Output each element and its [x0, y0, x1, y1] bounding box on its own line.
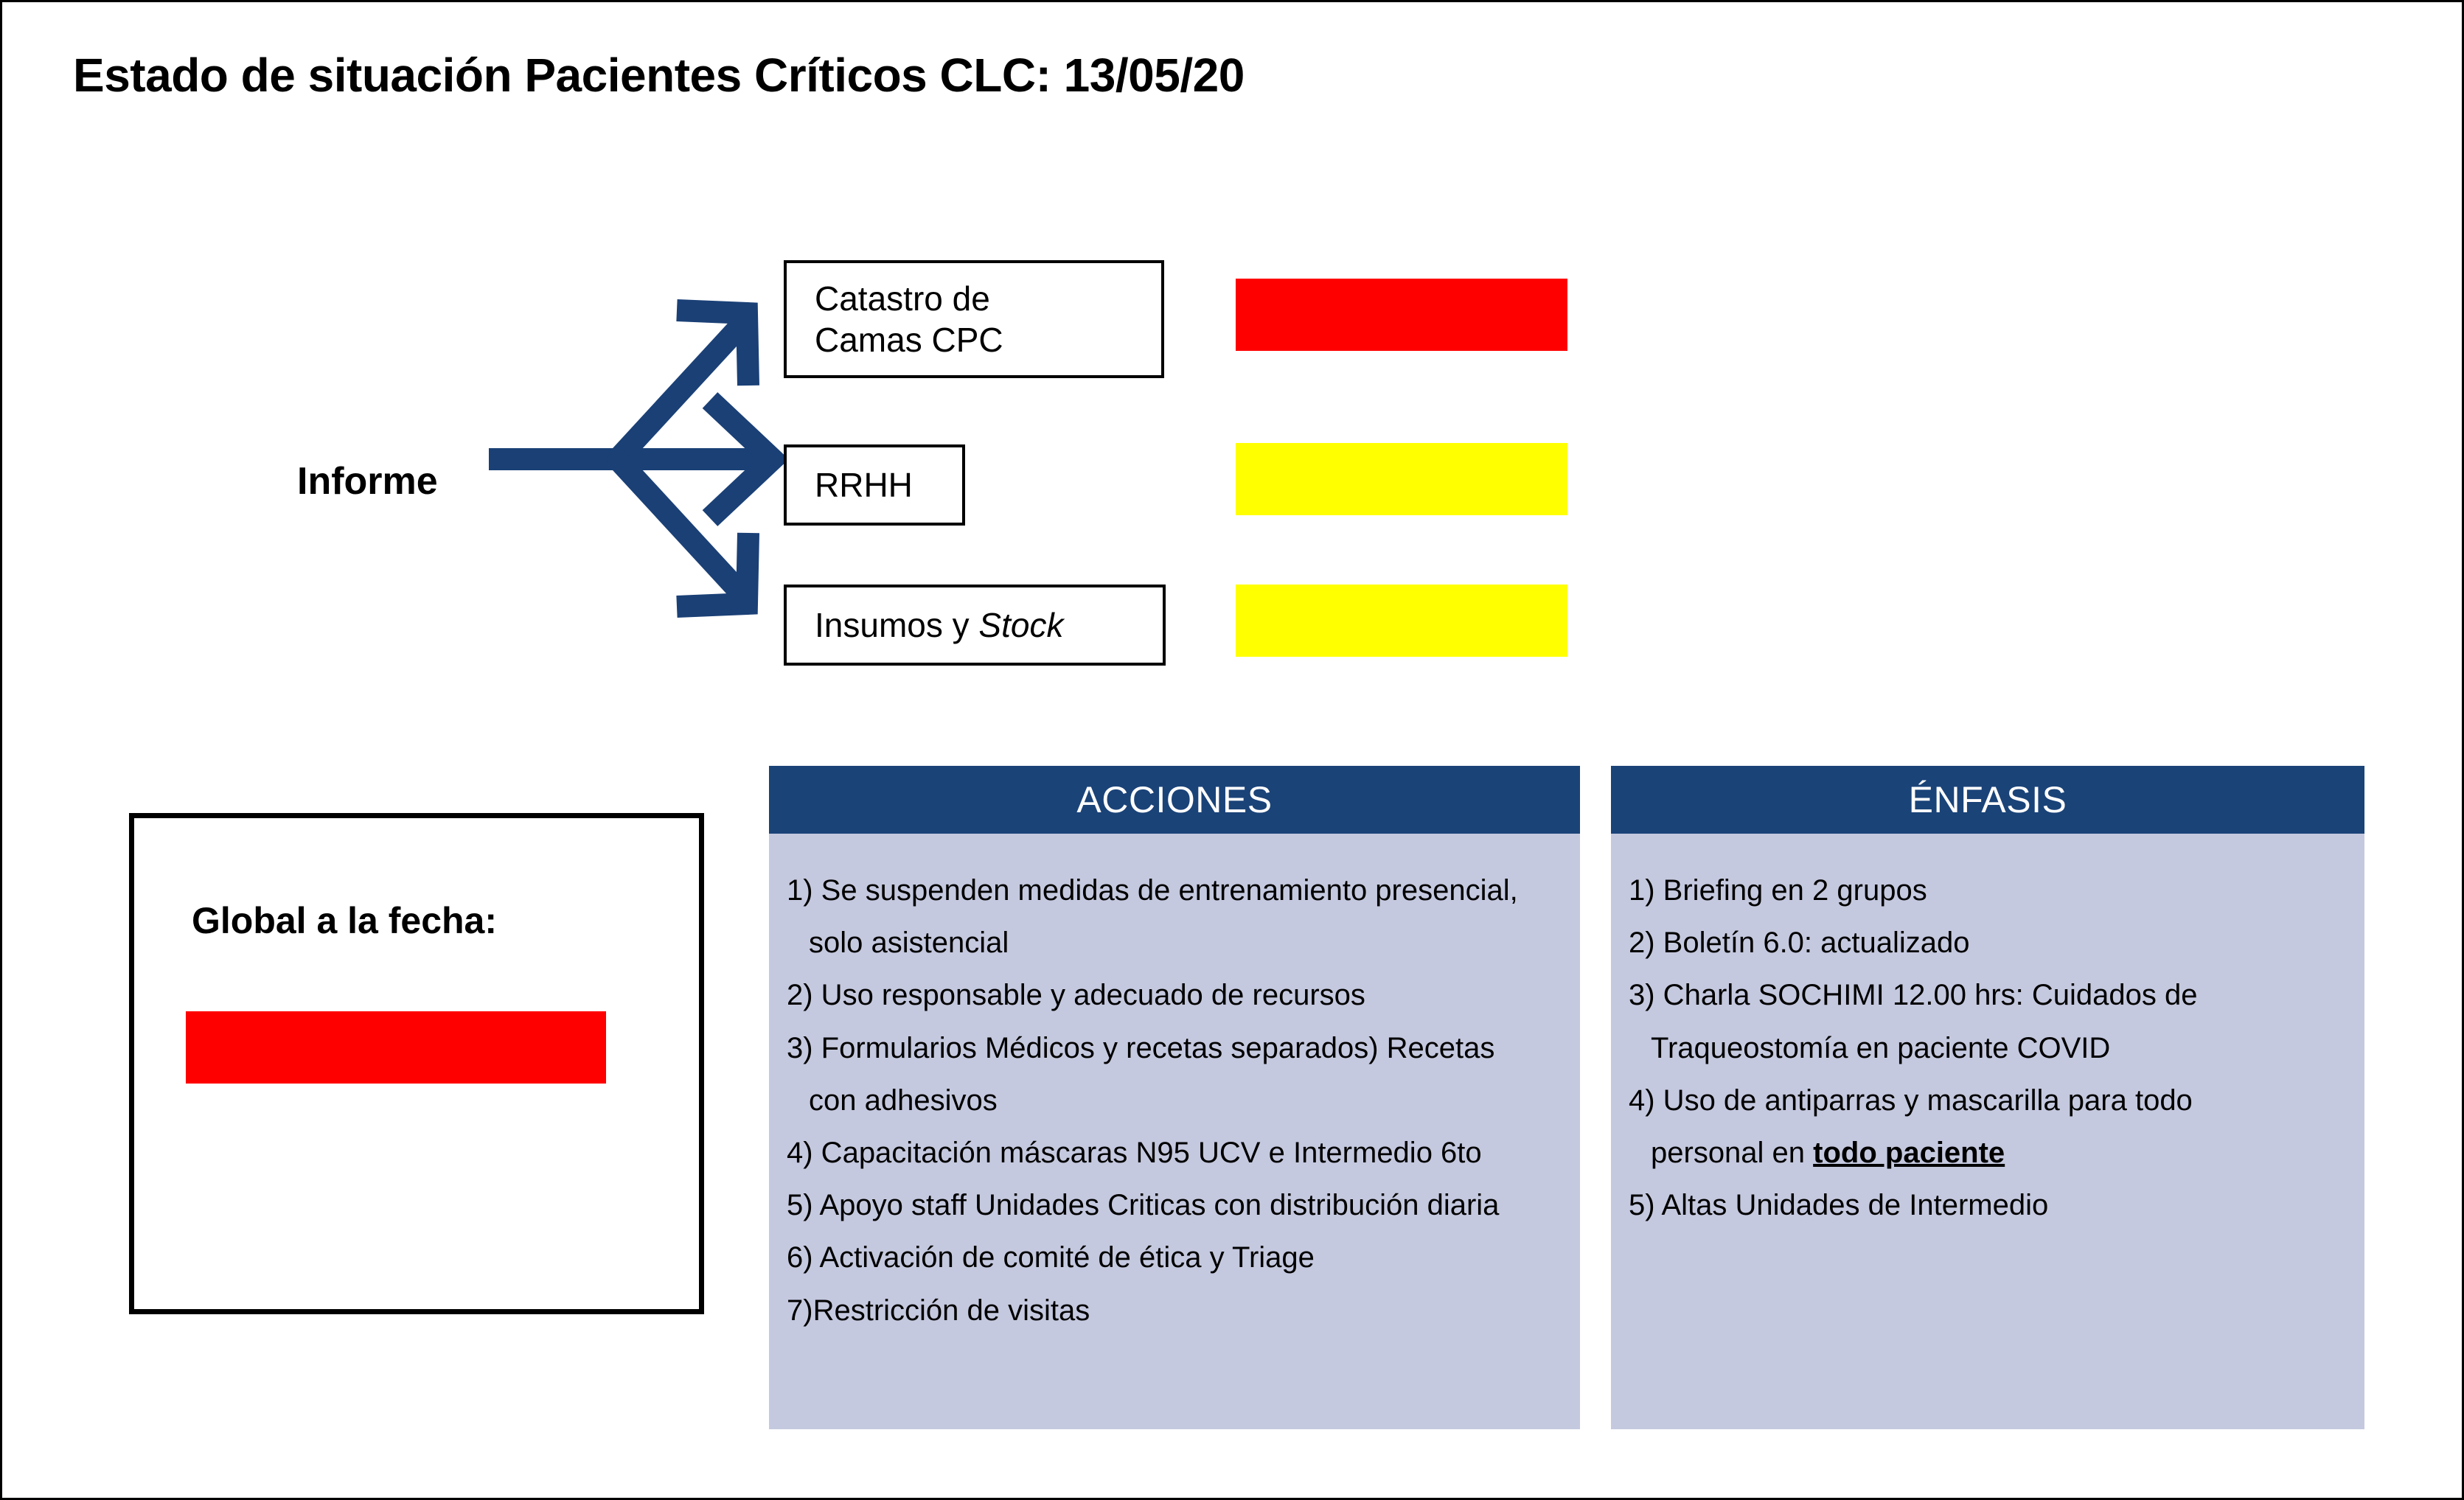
- list-item: 2) Uso responsable y adecuado de recurso…: [787, 969, 1562, 1022]
- panel-enfasis-body: 1) Briefing en 2 grupos2) Boletín 6.0: a…: [1611, 834, 2364, 1429]
- list-item: 4) Capacitación máscaras N95 UCV e Inter…: [787, 1127, 1562, 1179]
- list-item-text: 7)Restricción de visitas: [787, 1294, 1090, 1327]
- emphasized-text: todo paciente: [1813, 1137, 2005, 1169]
- panel-enfasis: ÉNFASIS 1) Briefing en 2 grupos2) Boletí…: [1611, 766, 2364, 1429]
- flow-box-insumos[interactable]: Insumos y Stock: [784, 585, 1166, 666]
- flow-arrows-group: [489, 282, 798, 629]
- arrow-up-shaft: [614, 323, 743, 463]
- list-item-text: 1) Se suspenden medidas de entrenamiento…: [787, 874, 1518, 907]
- panel-acciones-body: 1) Se suspenden medidas de entrenamiento…: [769, 834, 1580, 1429]
- list-item-continuation: Traqueostomía en paciente COVID: [1629, 1022, 2347, 1075]
- list-item-text: 4) Uso de antiparras y mascarilla para t…: [1629, 1084, 2193, 1117]
- list-item: 3) Formularios Médicos y recetas separad…: [787, 1022, 1562, 1127]
- list-item-continuation-text: personal en: [1651, 1137, 1813, 1169]
- panel-acciones: ACCIONES 1) Se suspenden medidas de entr…: [769, 766, 1580, 1429]
- list-item-text: 2) Boletín 6.0: actualizado: [1629, 927, 1970, 959]
- list-item-continuation: solo asistencial: [787, 917, 1562, 969]
- flow-box-rrhh[interactable]: RRHH: [784, 444, 965, 526]
- status-badge-global: [186, 1011, 606, 1084]
- list-item-text: 2) Uso responsable y adecuado de recurso…: [787, 979, 1365, 1011]
- list-item-continuation: con adhesivos: [787, 1075, 1562, 1127]
- flow-box-rrhh-label: RRHH: [815, 464, 913, 506]
- global-status-label: Global a la fecha:: [192, 899, 497, 942]
- list-item-text: 1) Briefing en 2 grupos: [1629, 874, 1927, 907]
- page-title: Estado de situación Pacientes Críticos C…: [73, 48, 1245, 102]
- list-item: 5) Altas Unidades de Intermedio: [1629, 1179, 2347, 1232]
- list-item-text: 5) Apoyo staff Unidades Criticas con dis…: [787, 1189, 1499, 1221]
- list-item-text: 5) Altas Unidades de Intermedio: [1629, 1189, 2048, 1221]
- list-item: 3) Charla SOCHIMI 12.00 hrs: Cuidados de…: [1629, 969, 2347, 1074]
- list-item-text: 6) Activación de comité de ética y Triag…: [787, 1241, 1315, 1274]
- flow-source-label: Informe: [297, 459, 438, 503]
- list-item: 6) Activación de comité de ética y Triag…: [787, 1232, 1562, 1284]
- list-item: 5) Apoyo staff Unidades Criticas con dis…: [787, 1179, 1562, 1232]
- global-status-box: Global a la fecha:: [129, 813, 704, 1314]
- panel-enfasis-header: ÉNFASIS: [1611, 766, 2364, 834]
- flow-box-catastro-label: Catastro de Camas CPC: [815, 278, 1003, 360]
- list-item: 1) Briefing en 2 grupos: [1629, 865, 2347, 917]
- list-item-text: 3) Charla SOCHIMI 12.00 hrs: Cuidados de: [1629, 979, 2197, 1011]
- list-item: 2) Boletín 6.0: actualizado: [1629, 917, 2347, 969]
- arrow-down-shaft: [614, 456, 743, 596]
- list-item: 7)Restricción de visitas: [787, 1285, 1562, 1337]
- list-item-continuation: personal en todo paciente: [1629, 1127, 2347, 1179]
- panel-acciones-header: ACCIONES: [769, 766, 1580, 834]
- status-badge-catastro: [1236, 279, 1567, 351]
- status-badge-rrhh: [1236, 443, 1567, 515]
- list-item-text: 4) Capacitación máscaras N95 UCV e Inter…: [787, 1137, 1482, 1169]
- flow-box-insumos-label: Insumos y Stock: [815, 604, 1063, 646]
- list-item: 4) Uso de antiparras y mascarilla para t…: [1629, 1075, 2347, 1179]
- flow-box-catastro[interactable]: Catastro de Camas CPC: [784, 260, 1164, 378]
- list-item-text: 3) Formularios Médicos y recetas separad…: [787, 1032, 1494, 1064]
- status-badge-insumos: [1236, 585, 1567, 657]
- slide-canvas: Estado de situación Pacientes Críticos C…: [0, 0, 2464, 1500]
- list-item: 1) Se suspenden medidas de entrenamiento…: [787, 865, 1562, 969]
